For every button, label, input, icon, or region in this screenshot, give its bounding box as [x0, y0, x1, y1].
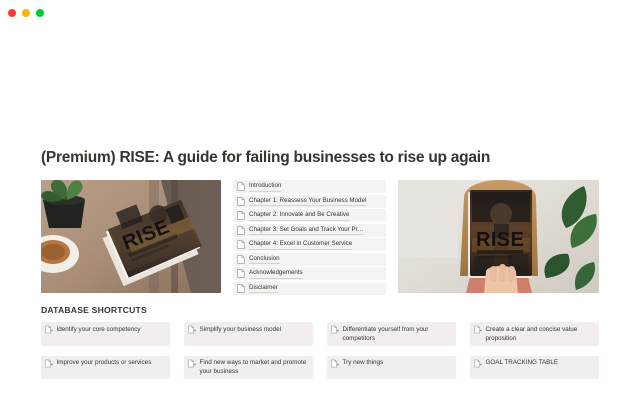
toc-item-chapter-3[interactable]: Chapter 3: Set Goals and Track Your Pr…: [233, 224, 386, 237]
toc-item-label: Disclaimer: [249, 283, 278, 294]
toc-item-label: Acknowledgements: [249, 268, 303, 279]
shortcut-card[interactable]: Differentiate yourself from your competi…: [327, 322, 456, 346]
page-link-icon: [331, 359, 339, 368]
database-shortcuts-grid: Identify your core competency Simplify y…: [41, 322, 599, 379]
page-link-icon: [45, 325, 53, 334]
page-link-icon: [45, 359, 53, 368]
shortcut-card[interactable]: Find new ways to market and promote your…: [184, 356, 313, 380]
svg-text:RISE: RISE: [476, 229, 524, 251]
shortcut-label: Create a clear and concise value proposi…: [486, 325, 595, 343]
toc-item-chapter-2[interactable]: Chapter 2: Innovate and Be Creative: [233, 209, 386, 222]
page-icon: [237, 240, 245, 249]
shortcut-card[interactable]: Improve your products or services: [41, 356, 170, 380]
shortcut-card[interactable]: Create a clear and concise value proposi…: [470, 322, 599, 346]
toc-item-chapter-1[interactable]: Chapter 1: Reassess Your Business Model: [233, 195, 386, 208]
shortcut-card[interactable]: Simplify your business model: [184, 322, 313, 346]
shortcut-card[interactable]: GOAL TRACKING TABLE: [470, 356, 599, 380]
toc-item-disclaimer[interactable]: Disclaimer: [233, 282, 386, 295]
toc-item-label: Conclusion: [249, 254, 280, 265]
page-title: (Premium) RISE: A guide for failing busi…: [41, 148, 601, 168]
shortcut-card[interactable]: Try new things: [327, 356, 456, 380]
table-of-contents: Introduction Chapter 1: Reassess Your Bu…: [233, 180, 386, 296]
page-link-icon: [474, 325, 482, 334]
database-shortcuts-heading: DATABASE SHORTCUTS: [41, 305, 147, 315]
page-icon: [237, 226, 245, 235]
media-and-toc-band: RISE Introduction Chapter 1: [41, 180, 599, 296]
toc-item-chapter-4[interactable]: Chapter 4: Excel in Customer Service: [233, 238, 386, 251]
page-link-icon: [474, 359, 482, 368]
window-controls: [8, 9, 44, 17]
page-icon: [237, 269, 245, 278]
toc-item-label: Chapter 1: Reassess Your Business Model: [249, 196, 366, 207]
toc-item-label: Chapter 4: Excel in Customer Service: [249, 239, 352, 250]
toc-item-label: Chapter 3: Set Goals and Track Your Pr…: [249, 225, 364, 236]
shortcut-label: Try new things: [343, 358, 384, 367]
page-icon: [237, 255, 245, 264]
minimize-window-button[interactable]: [22, 9, 30, 17]
window-titlebar: [0, 0, 640, 26]
page-icon: [237, 197, 245, 206]
toc-item-acknowledgements[interactable]: Acknowledgements: [233, 267, 386, 280]
page-icon: [237, 211, 245, 220]
shortcut-label: Improve your products or services: [57, 358, 152, 367]
toc-item-introduction[interactable]: Introduction: [233, 180, 386, 193]
toc-item-label: Chapter 2: Innovate and Be Creative: [249, 210, 349, 221]
shortcut-label: Simplify your business model: [200, 325, 282, 334]
book-on-table-illustration: RISE: [41, 180, 221, 293]
page-link-icon: [331, 325, 339, 334]
shortcut-label: GOAL TRACKING TABLE: [486, 358, 559, 367]
toc-item-conclusion[interactable]: Conclusion: [233, 253, 386, 266]
document-page: (Premium) RISE: A guide for failing busi…: [0, 26, 640, 400]
page-icon: [237, 182, 245, 191]
shortcut-label: Identify your core competency: [57, 325, 141, 334]
shortcut-label: Find new ways to market and promote your…: [200, 358, 309, 376]
toc-item-label: Introduction: [249, 181, 281, 192]
shortcut-label: Differentiate yourself from your competi…: [343, 325, 452, 343]
person-holding-book-image: RISE: [398, 180, 599, 293]
person-holding-book-illustration: RISE: [398, 180, 599, 293]
book-on-table-image: RISE: [41, 180, 221, 293]
close-window-button[interactable]: [8, 9, 16, 17]
page-icon: [237, 284, 245, 293]
page-link-icon: [188, 359, 196, 368]
page-link-icon: [188, 325, 196, 334]
shortcut-card[interactable]: Identify your core competency: [41, 322, 170, 346]
maximize-window-button[interactable]: [36, 9, 44, 17]
